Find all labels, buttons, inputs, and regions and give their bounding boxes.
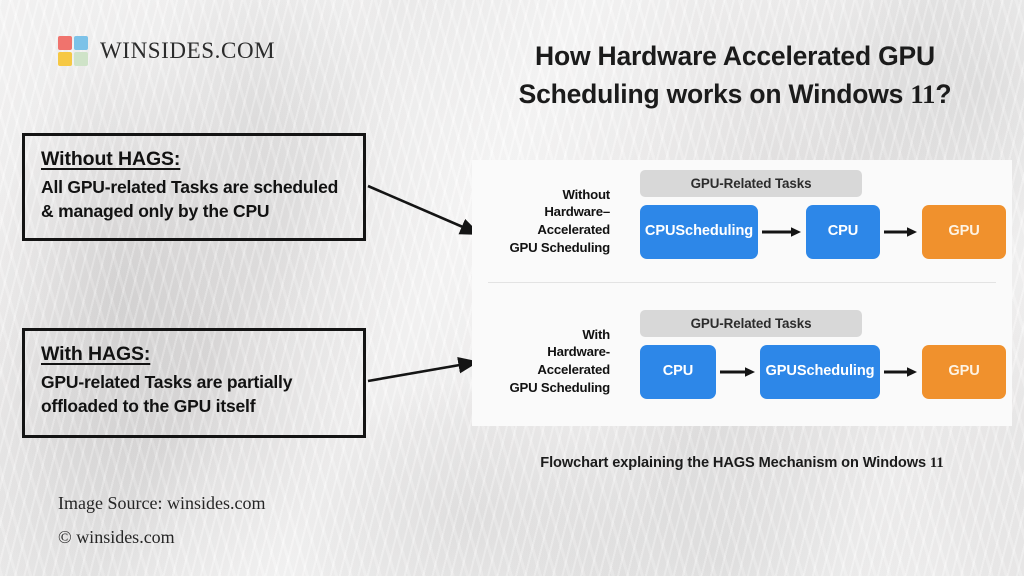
- node-cpu-scheduling-row1-line1: CPU: [645, 223, 676, 241]
- node-gpu-row2-label: GPU: [948, 363, 979, 381]
- footer-credits: Image Source: winsides.com © winsides.co…: [58, 486, 265, 554]
- flowchart-row2-nodes: GPU-Related Tasks CPU GPU Scheduling: [618, 300, 1012, 422]
- caption-windows-version: 11: [930, 455, 944, 471]
- node-cpu-row2[interactable]: CPU: [640, 345, 716, 399]
- callout-with-hags-heading: With HAGS:: [41, 343, 349, 366]
- caption-text: Flowchart explaining the HAGS Mechanism …: [540, 455, 930, 471]
- title-line-2-post: ?: [935, 79, 951, 109]
- row1-label-line3: Accelerated: [537, 222, 610, 237]
- row2-label-line1: With: [582, 327, 610, 342]
- slide-canvas: WINSIDES.COM How Hardware Accelerated GP…: [0, 0, 1024, 576]
- four-square-grid-icon: [58, 36, 88, 66]
- flowchart-caption: Flowchart explaining the HAGS Mechanism …: [472, 455, 1012, 472]
- flowchart-row-with-hags: With Hardware- Accelerated GPU Schedulin…: [472, 300, 1012, 422]
- row1-label-line4: GPU Scheduling: [509, 240, 610, 255]
- flowchart-row-without-hags: Without Hardware– Accelerated GPU Schedu…: [472, 160, 1012, 282]
- node-gpu-row2[interactable]: GPU: [922, 345, 1006, 399]
- node-gpu-row1[interactable]: GPU: [922, 205, 1006, 259]
- footer-image-source: Image Source: winsides.com: [58, 486, 265, 520]
- callout-with-hags-body-line1: GPU-related Tasks are partially: [41, 372, 292, 392]
- callout-with-hags-body: GPU-related Tasks are partially offloade…: [41, 371, 349, 418]
- callout-without-hags: Without HAGS: All GPU-related Tasks are …: [22, 133, 366, 241]
- page-title: How Hardware Accelerated GPU Scheduling …: [470, 38, 1000, 113]
- logo-square-blue: [74, 36, 88, 50]
- node-gpu-scheduling-row2-line2: Scheduling: [797, 363, 875, 381]
- node-cpu-row2-label: CPU: [663, 363, 694, 381]
- logo-square-red: [58, 36, 72, 50]
- callout-with-hags-body-line2: offloaded to the GPU itself: [41, 396, 255, 416]
- flow-arrow-row1-b: [884, 226, 918, 238]
- node-cpu-scheduling-row1-line2: Scheduling: [675, 223, 753, 241]
- connector-arrow-with-hags: [368, 362, 477, 381]
- flowchart-row-divider: [488, 282, 996, 283]
- callout-without-hags-body: All GPU-related Tasks are scheduled & ma…: [41, 176, 349, 223]
- footer-copyright-text: winsides.com: [76, 527, 175, 547]
- row1-label-line2: Hardware–: [544, 204, 610, 219]
- gpu-related-tasks-bar-row2: GPU-Related Tasks: [640, 310, 862, 337]
- brand-name: WINSIDES.COM: [100, 38, 275, 64]
- callout-without-hags-body-line1: All GPU-related Tasks are scheduled: [41, 177, 338, 197]
- footer-copyright: © winsides.com: [58, 520, 265, 554]
- callout-with-hags: With HAGS: GPU-related Tasks are partial…: [22, 328, 366, 438]
- row2-label-line4: GPU Scheduling: [509, 380, 610, 395]
- brand-logo-block: WINSIDES.COM: [58, 36, 275, 66]
- row2-label-line2: Hardware-: [547, 344, 610, 359]
- gpu-related-tasks-bar-row1: GPU-Related Tasks: [640, 170, 862, 197]
- callout-without-hags-body-line2: & managed only by the CPU: [41, 201, 269, 221]
- node-cpu-row1-label: CPU: [828, 223, 859, 241]
- flow-arrow-row2-b: [884, 366, 918, 378]
- flowchart-panel: Without Hardware– Accelerated GPU Schedu…: [472, 160, 1012, 426]
- connector-arrow-without-hags: [368, 186, 479, 234]
- logo-square-yellow: [58, 52, 72, 66]
- flow-arrow-row1-a: [762, 226, 802, 238]
- node-gpu-scheduling-row2-line1: GPU: [766, 363, 797, 381]
- copyright-icon: ©: [58, 527, 72, 547]
- node-cpu-row1[interactable]: CPU: [806, 205, 880, 259]
- node-gpu-scheduling-row2[interactable]: GPU Scheduling: [760, 345, 880, 399]
- logo-square-green: [74, 52, 88, 66]
- flowchart-row1-nodes: GPU-Related Tasks CPU Scheduling CPU: [618, 160, 1012, 282]
- flowchart-row-label-with-hags: With Hardware- Accelerated GPU Schedulin…: [472, 326, 618, 396]
- row2-label-line3: Accelerated: [537, 362, 610, 377]
- node-cpu-scheduling-row1[interactable]: CPU Scheduling: [640, 205, 758, 259]
- node-gpu-row1-label: GPU: [948, 223, 979, 241]
- row1-label-line1: Without: [562, 187, 610, 202]
- title-line-1: How Hardware Accelerated GPU: [535, 41, 935, 71]
- flowchart-row-label-without-hags: Without Hardware– Accelerated GPU Schedu…: [472, 186, 618, 256]
- flow-arrow-row2-a: [720, 366, 756, 378]
- title-line-2-pre: Scheduling works on Windows: [519, 79, 911, 109]
- title-windows-version: 11: [910, 79, 935, 109]
- callout-without-hags-heading: Without HAGS:: [41, 148, 349, 171]
